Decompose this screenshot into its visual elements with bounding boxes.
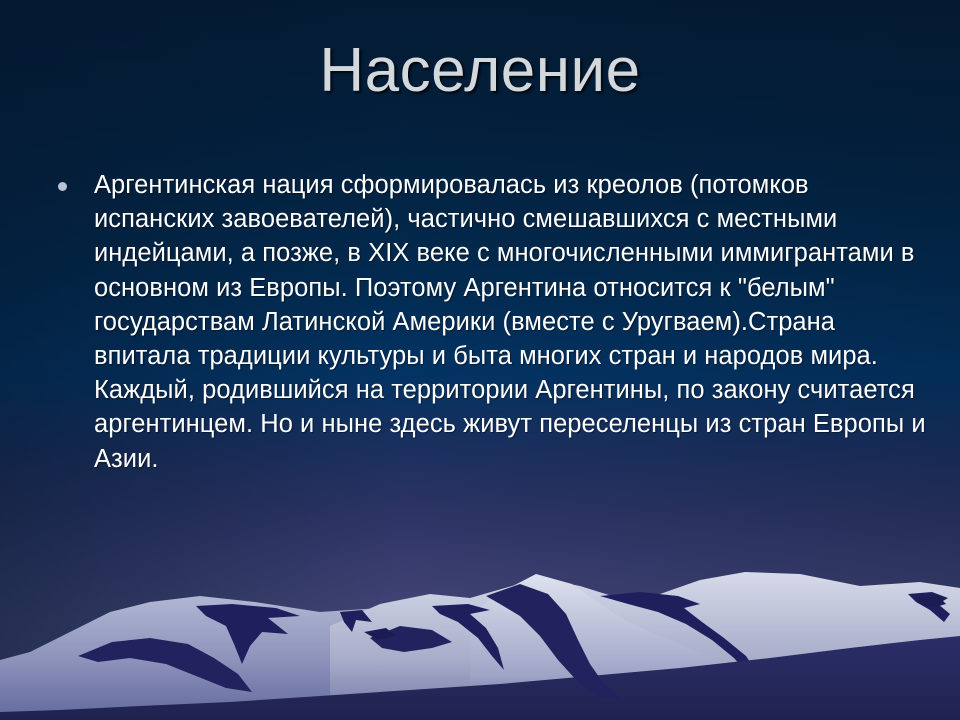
bullet-dot-icon — [58, 182, 67, 191]
list-item: Аргентинская нация сформировалась из кре… — [52, 168, 928, 476]
presentation-slide: Население Аргентинская нация сформировал… — [0, 0, 960, 720]
mountain-landscape-graphic — [0, 560, 960, 720]
slide-body: Аргентинская нация сформировалась из кре… — [52, 168, 928, 476]
slide-title: Население — [0, 38, 960, 103]
bullet-text: Аргентинская нация сформировалась из кре… — [94, 168, 928, 476]
